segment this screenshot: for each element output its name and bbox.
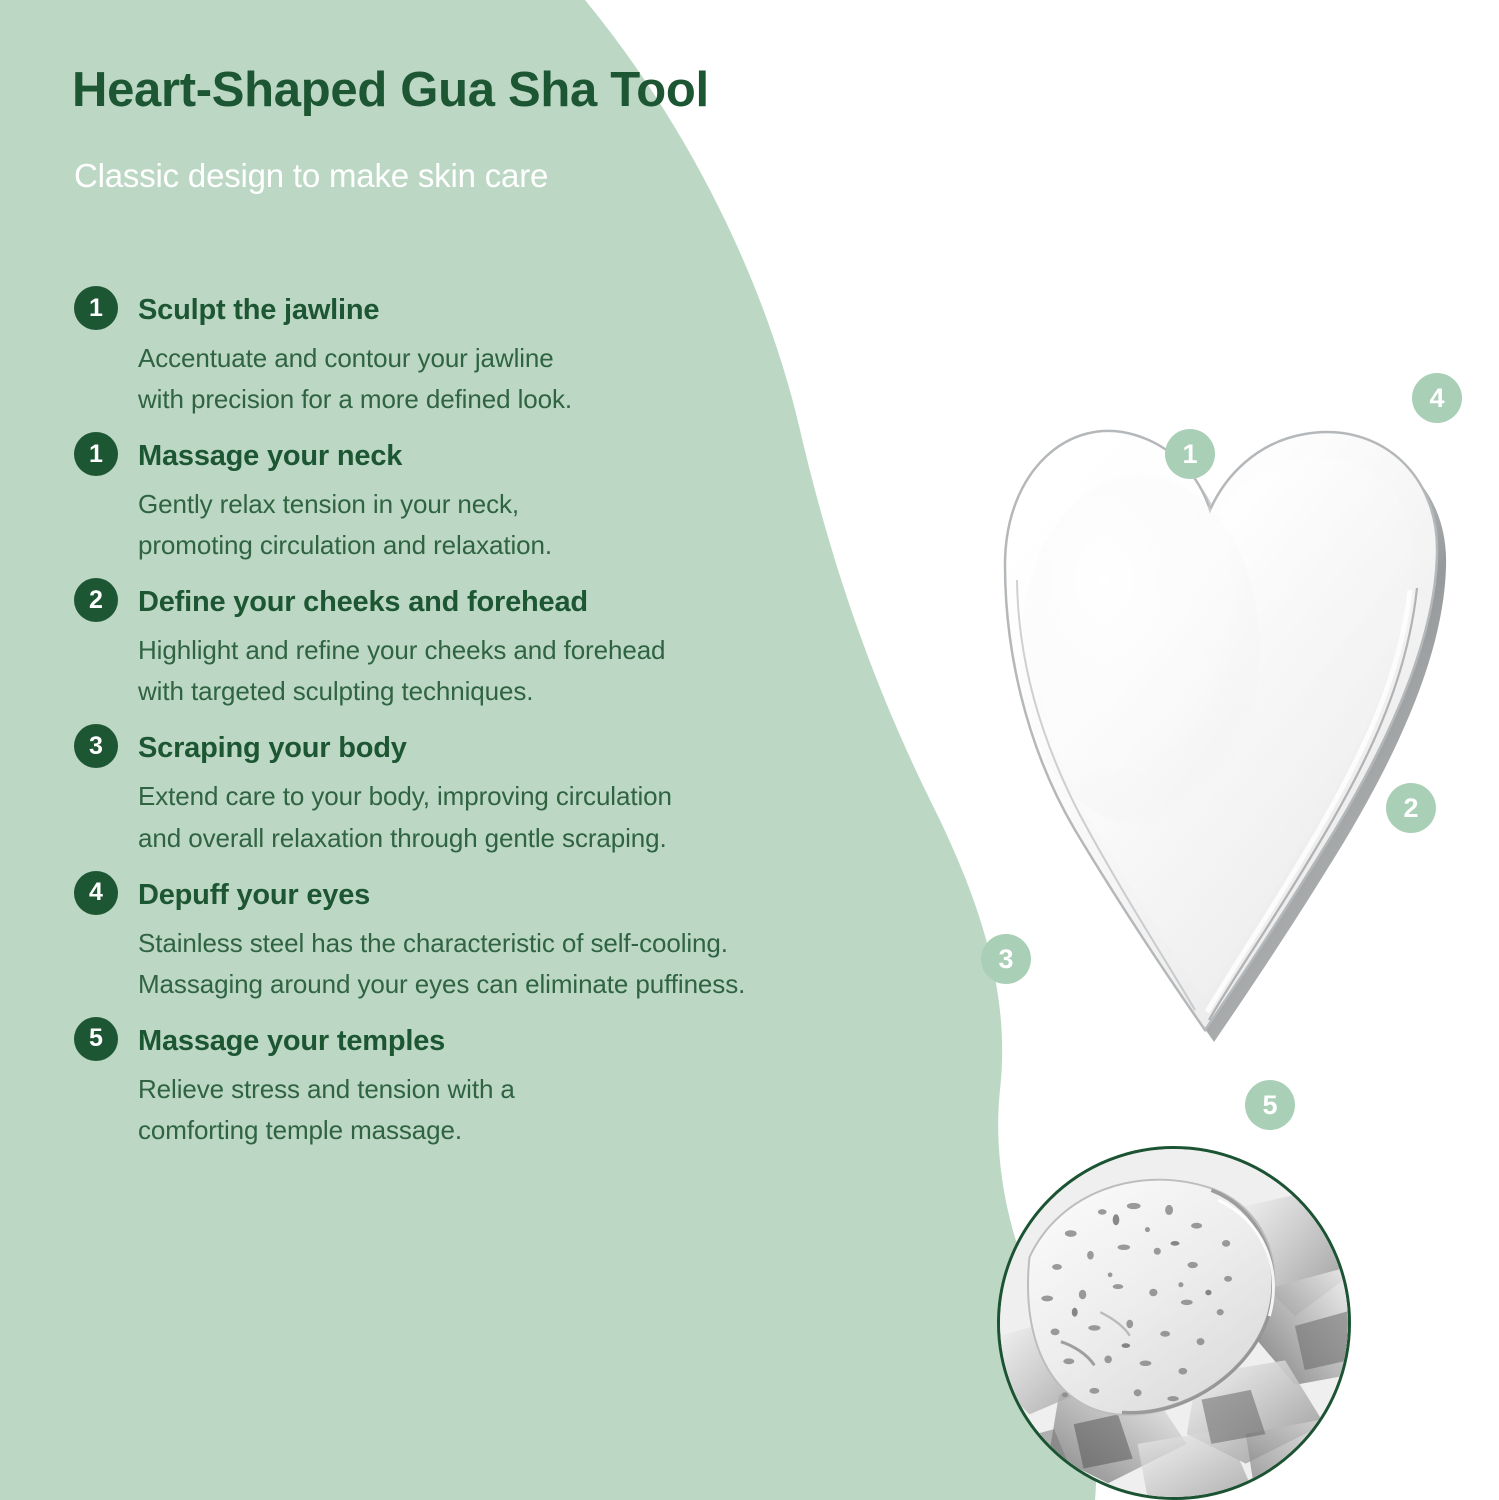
product-marker-1: 1 [1165,429,1215,479]
feature-description: Stainless steel has the characteristic o… [138,923,954,1005]
feature-description: Highlight and refine your cheeks and for… [138,630,954,712]
feature-number-badge: 4 [74,871,118,915]
feature-description-line: with precision for a more defined look. [138,379,954,420]
product-marker-3: 3 [981,934,1031,984]
page-title: Heart-Shaped Gua Sha Tool [72,62,709,118]
feature-description: Accentuate and contour your jawline with… [138,338,954,420]
feature-description-line: and overall relaxation through gentle sc… [138,818,954,859]
product-marker-5: 5 [1245,1080,1295,1130]
feature-item: 1 Massage your neck Gently relax tension… [74,434,954,566]
feature-description-line: comforting temple massage. [138,1110,954,1151]
feature-item: 3 Scraping your body Extend care to your… [74,726,954,858]
feature-description-line: Stainless steel has the characteristic o… [138,923,954,964]
product-marker-2: 2 [1386,783,1436,833]
feature-header: 1 Massage your neck [74,434,954,478]
feature-number-badge: 2 [74,578,118,622]
feature-number-badge: 3 [74,724,118,768]
product-marker-4: 4 [1412,373,1462,423]
ice-closeup-illustration [1000,1149,1348,1497]
feature-title: Define your cheeks and forehead [138,580,588,624]
feature-title: Massage your neck [138,434,402,478]
feature-item: 1 Sculpt the jawline Accentuate and cont… [74,288,954,420]
feature-description-line: Highlight and refine your cheeks and for… [138,630,954,671]
feature-item: 5 Massage your temples Relieve stress an… [74,1019,954,1151]
feature-description-line: Accentuate and contour your jawline [138,338,954,379]
feature-number-badge: 1 [74,286,118,330]
feature-description-line: Gently relax tension in your neck, [138,484,954,525]
page-subtitle: Classic design to make skin care [74,157,548,195]
feature-description-line: Relieve stress and tension with a [138,1069,954,1110]
feature-description: Gently relax tension in your neck, promo… [138,484,954,566]
gua-sha-heart-shape [905,390,1499,1090]
feature-header: 3 Scraping your body [74,726,954,770]
feature-number-badge: 5 [74,1017,118,1061]
feature-item: 4 Depuff your eyes Stainless steel has t… [74,873,954,1005]
feature-description-line: with targeted sculpting techniques. [138,671,954,712]
feature-title: Massage your temples [138,1019,445,1063]
feature-description-line: promoting circulation and relaxation. [138,525,954,566]
feature-number-badge: 1 [74,432,118,476]
feature-list: 1 Sculpt the jawline Accentuate and cont… [74,288,954,1165]
feature-description: Extend care to your body, improving circ… [138,776,954,858]
feature-title: Sculpt the jawline [138,288,379,332]
feature-header: 2 Define your cheeks and forehead [74,580,954,624]
feature-header: 1 Sculpt the jawline [74,288,954,332]
feature-header: 4 Depuff your eyes [74,873,954,917]
feature-description: Relieve stress and tension with a comfor… [138,1069,954,1151]
feature-title: Scraping your body [138,726,407,770]
infographic-root: Heart-Shaped Gua Sha Tool Classic design… [0,0,1499,1500]
feature-description-line: Extend care to your body, improving circ… [138,776,954,817]
gua-sha-tool-image [905,390,1499,1090]
ice-closeup-inset [997,1146,1351,1500]
content-column: Heart-Shaped Gua Sha Tool Classic design… [0,0,960,1500]
feature-title: Depuff your eyes [138,873,370,917]
feature-description-line: Massaging around your eyes can eliminate… [138,964,954,1005]
feature-header: 5 Massage your temples [74,1019,954,1063]
feature-item: 2 Define your cheeks and forehead Highli… [74,580,954,712]
